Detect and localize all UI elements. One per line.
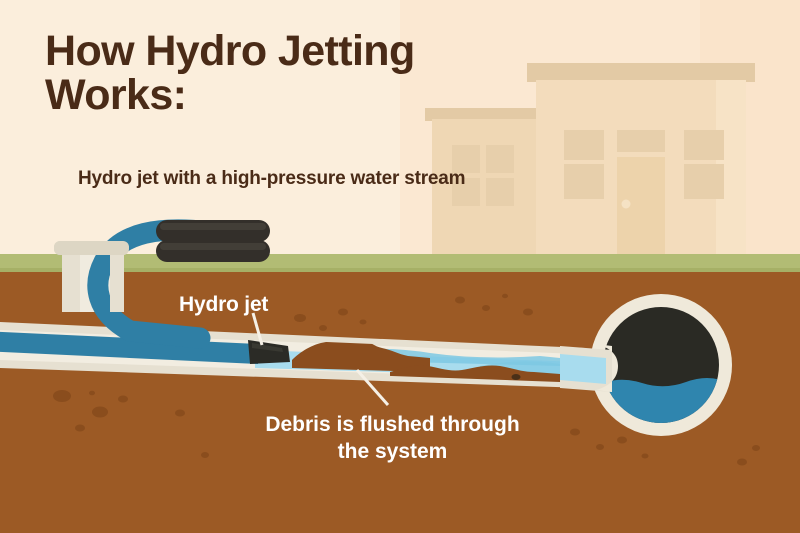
infographic-canvas: How Hydro Jetting Works: Hydro jet with …: [0, 0, 800, 533]
window: [684, 130, 724, 160]
window: [684, 164, 724, 199]
building-main: [527, 63, 755, 257]
debris-speck: [512, 374, 521, 380]
page-title: How Hydro Jetting Works:: [45, 30, 415, 118]
window: [564, 130, 604, 160]
doorknob: [622, 200, 631, 209]
subtitle-caption: Hydro jet with a high-pressure water str…: [78, 168, 465, 190]
window: [564, 164, 604, 199]
hose-coil-stack: [156, 220, 270, 262]
label-debris-flushed: Debris is flushed through the system: [250, 412, 535, 466]
label-hydro-jet: Hydro jet: [179, 293, 268, 317]
pipe-manhole-water: [560, 354, 606, 384]
window: [617, 130, 665, 152]
